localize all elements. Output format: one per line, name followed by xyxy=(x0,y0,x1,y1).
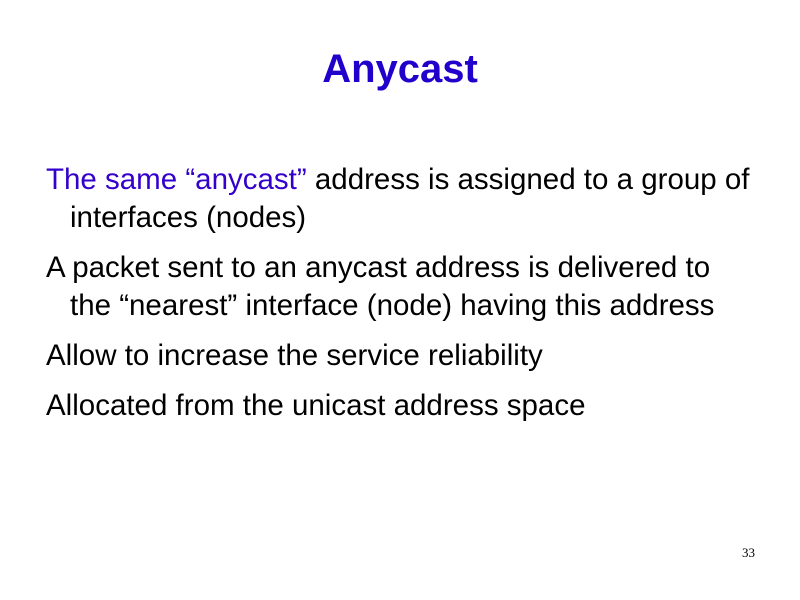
list-item-text: Allow to increase the service reliabilit… xyxy=(46,339,543,372)
list-item: A packet sent to an anycast address is d… xyxy=(46,249,752,325)
list-item-highlight: The same “anycast” xyxy=(46,163,307,196)
list-item: Allow to increase the service reliabilit… xyxy=(46,337,752,375)
slide-canvas: Anycast The same “anycast” address is as… xyxy=(0,0,800,600)
list-item: The same “anycast” address is assigned t… xyxy=(46,161,752,237)
list-item: Allocated from the unicast address space xyxy=(46,387,752,425)
page-title: Anycast xyxy=(0,45,800,93)
list-item-text: Allocated from the unicast address space xyxy=(46,389,585,422)
page-number: 33 xyxy=(742,545,755,561)
list-item-text: A packet sent to an anycast address is d… xyxy=(46,251,714,322)
bullet-list: The same “anycast” address is assigned t… xyxy=(46,161,752,425)
